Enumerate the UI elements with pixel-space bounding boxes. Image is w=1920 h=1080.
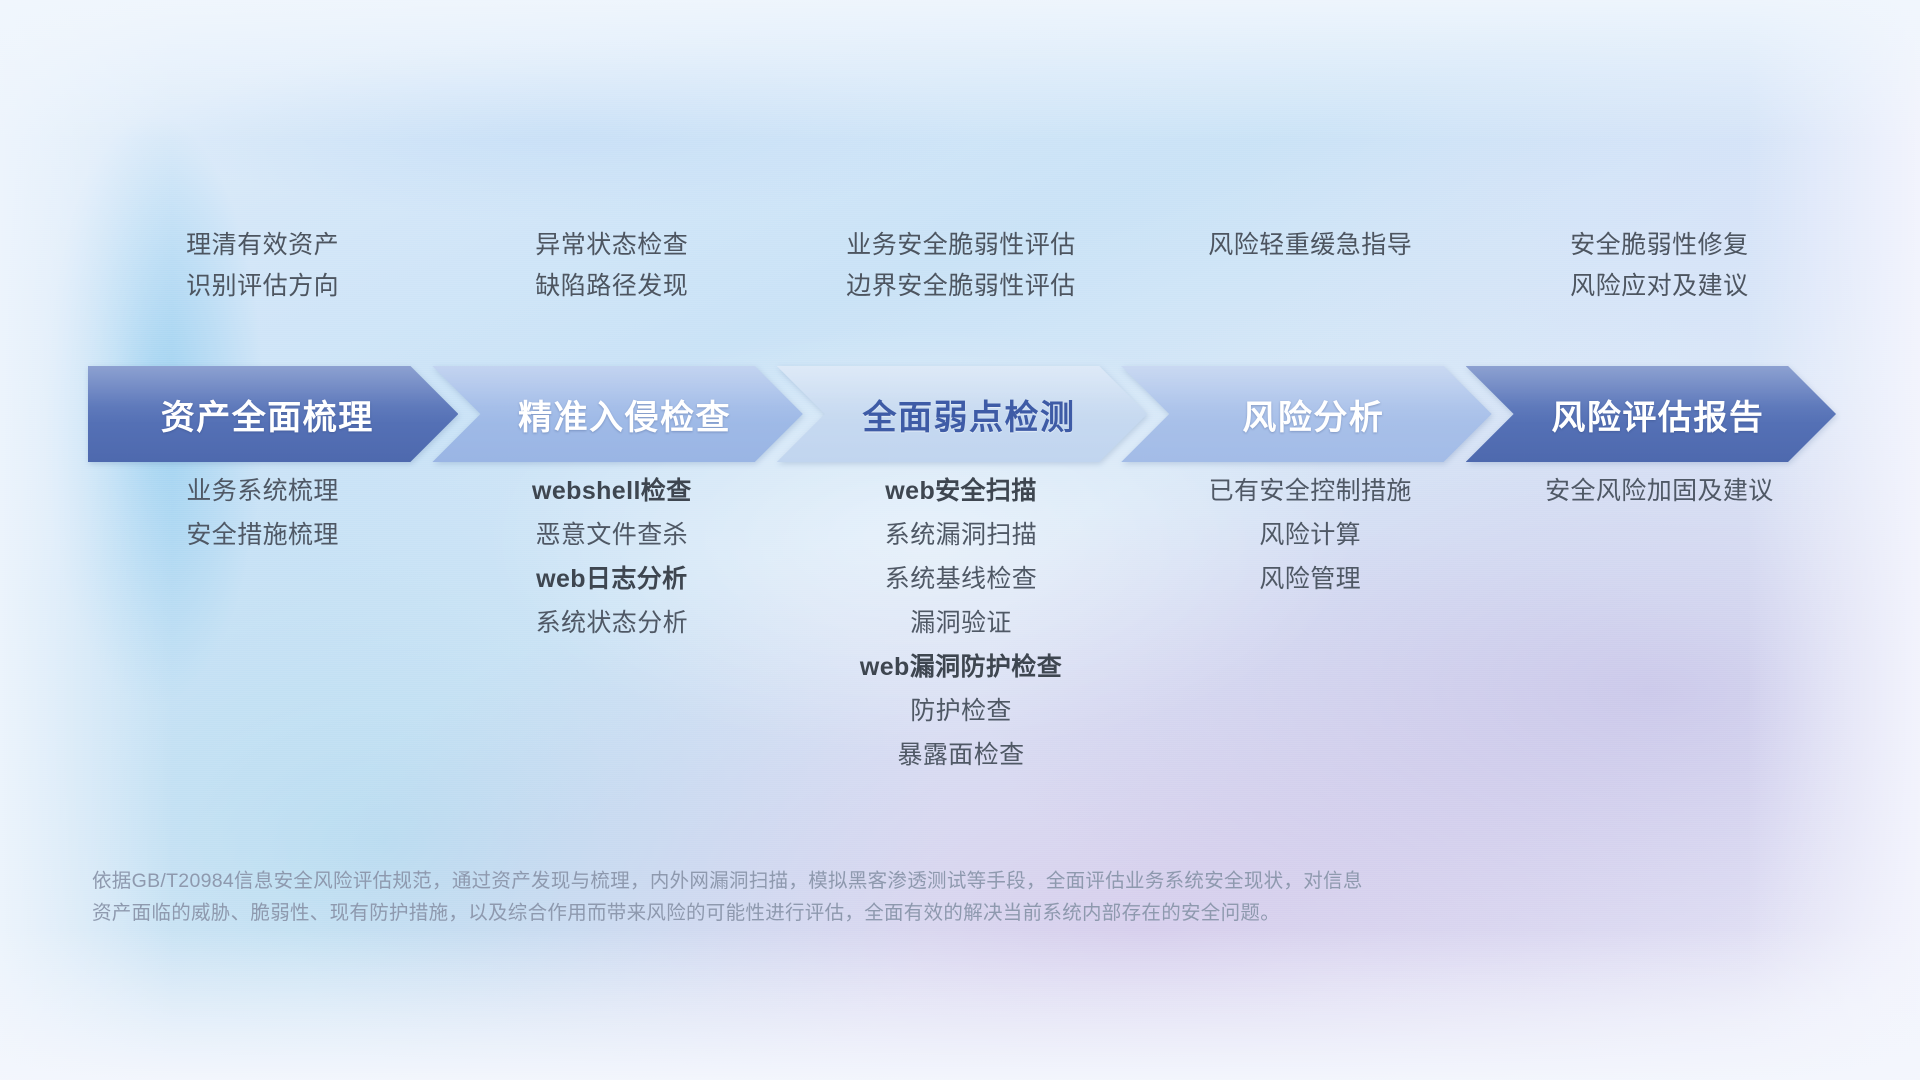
stage-output-label: 系统漏洞扫描 bbox=[885, 522, 1037, 549]
stage-input-label: 异常状态检查 bbox=[535, 232, 688, 259]
chevron-stage-title: 精准入侵检查 bbox=[518, 390, 731, 439]
stage-output-label: 安全措施梳理 bbox=[186, 522, 338, 549]
stage-inputs-intrusion-check: 异常状态检查 缺陷路径发现 bbox=[437, 232, 786, 332]
chevron-stage-risk-report[interactable]: 风险评估报告 bbox=[1466, 366, 1836, 462]
diagram-content: 理清有效资产 识别评估方向 异常状态检查 缺陷路径发现 业务安全脆弱性评估 边界… bbox=[0, 0, 1920, 1080]
chevron-stage-asset-inventory[interactable]: 资产全面梳理 bbox=[88, 366, 458, 462]
stage-output-label: web安全扫描 bbox=[885, 478, 1036, 505]
stage-output-label: 系统状态分析 bbox=[536, 610, 688, 637]
diagram-canvas: 理清有效资产 识别评估方向 异常状态检查 缺陷路径发现 业务安全脆弱性评估 边界… bbox=[0, 0, 1920, 1080]
chevron-stage-risk-analysis[interactable]: 风险分析 bbox=[1121, 366, 1491, 462]
stage-input-label: 理清有效资产 bbox=[186, 232, 339, 259]
stage-inputs-weakness-detection: 业务安全脆弱性评估 边界安全脆弱性评估 bbox=[786, 232, 1135, 332]
stage-input-label: 缺陷路径发现 bbox=[535, 273, 688, 300]
stage-input-label: 识别评估方向 bbox=[186, 273, 339, 300]
stage-inputs-risk-analysis: 风险轻重缓急指导 bbox=[1136, 232, 1485, 332]
process-chevron-band: 资产全面梳理 精准入侵检查 全面弱点检测 风险分析 风险评估报告 bbox=[88, 366, 1836, 462]
stage-outputs-asset-inventory: 业务系统梳理 安全措施梳理 bbox=[88, 478, 437, 549]
stage-inputs-row: 理清有效资产 识别评估方向 异常状态检查 缺陷路径发现 业务安全脆弱性评估 边界… bbox=[88, 232, 1834, 332]
stage-output-label: 已有安全控制措施 bbox=[1209, 478, 1412, 505]
stage-inputs-risk-report: 安全脆弱性修复 风险应对及建议 bbox=[1485, 232, 1834, 332]
stage-output-label: 系统基线检查 bbox=[885, 566, 1037, 593]
stage-output-label: 风险管理 bbox=[1259, 566, 1361, 593]
stage-output-label: 风险计算 bbox=[1259, 522, 1361, 549]
stage-outputs-weakness-detection: web安全扫描 系统漏洞扫描 系统基线检查 漏洞验证 web漏洞防护检查 防护检… bbox=[786, 478, 1135, 769]
footnote-line: 依据GB/T20984信息安全风险评估规范，通过资产发现与梳理，内外网漏洞扫描，… bbox=[92, 866, 1592, 898]
chevron-stage-weakness-detection[interactable]: 全面弱点检测 bbox=[777, 366, 1147, 462]
stage-outputs-risk-report: 安全风险加固及建议 bbox=[1485, 478, 1834, 505]
stage-input-label: 风险轻重缓急指导 bbox=[1208, 232, 1412, 259]
footnote-line: 资产面临的威胁、脆弱性、现有防护措施，以及综合作用而带来风险的可能性进行评估，全… bbox=[92, 898, 1592, 930]
stage-outputs-row: 业务系统梳理 安全措施梳理 webshell检查 恶意文件查杀 web日志分析 … bbox=[88, 478, 1834, 769]
chevron-stage-title: 全面弱点检测 bbox=[863, 390, 1076, 439]
stage-input-label: 业务安全脆弱性评估 bbox=[846, 232, 1076, 259]
stage-inputs-asset-inventory: 理清有效资产 识别评估方向 bbox=[88, 232, 437, 332]
stage-output-label: 恶意文件查杀 bbox=[536, 522, 688, 549]
stage-output-label: 安全风险加固及建议 bbox=[1545, 478, 1774, 505]
stage-input-label: 边界安全脆弱性评估 bbox=[846, 273, 1076, 300]
stage-output-label: webshell检查 bbox=[532, 478, 692, 505]
stage-output-label: 漏洞验证 bbox=[910, 610, 1012, 637]
chevron-stage-intrusion-check[interactable]: 精准入侵检查 bbox=[432, 366, 802, 462]
footnote-description: 依据GB/T20984信息安全风险评估规范，通过资产发现与梳理，内外网漏洞扫描，… bbox=[92, 866, 1592, 929]
chevron-stage-title: 风险分析 bbox=[1242, 390, 1384, 439]
stage-output-label: 暴露面检查 bbox=[898, 742, 1025, 769]
stage-input-label: 风险应对及建议 bbox=[1570, 273, 1749, 300]
chevron-stage-title: 风险评估报告 bbox=[1551, 390, 1764, 439]
stage-outputs-risk-analysis: 已有安全控制措施 风险计算 风险管理 bbox=[1136, 478, 1485, 593]
stage-input-label: 安全脆弱性修复 bbox=[1570, 232, 1749, 259]
chevron-stage-title: 资产全面梳理 bbox=[161, 390, 374, 439]
stage-output-label: 防护检查 bbox=[910, 698, 1012, 725]
stage-output-label: 业务系统梳理 bbox=[186, 478, 338, 505]
stage-output-label: web漏洞防护检查 bbox=[860, 654, 1062, 681]
stage-outputs-intrusion-check: webshell检查 恶意文件查杀 web日志分析 系统状态分析 bbox=[437, 478, 786, 637]
stage-output-label: web日志分析 bbox=[536, 566, 687, 593]
